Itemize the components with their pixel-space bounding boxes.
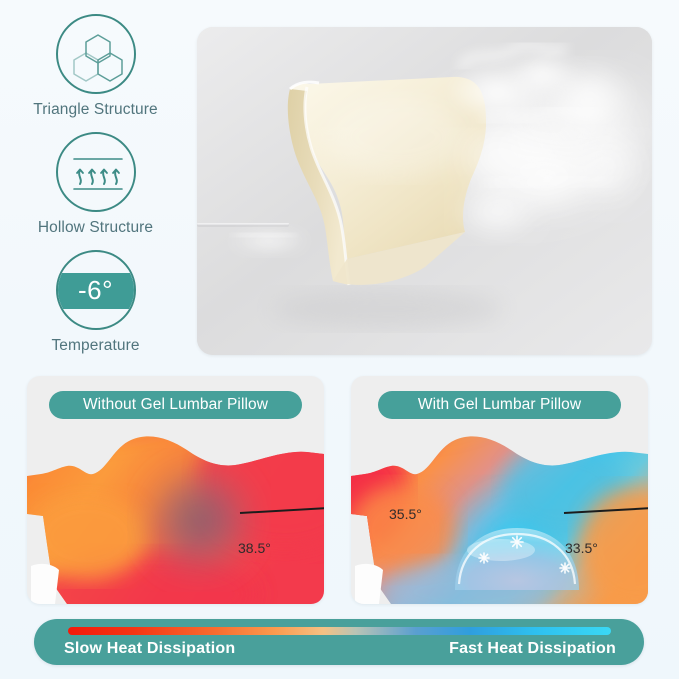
- product-photo-card: [197, 27, 652, 355]
- feature-temperature: -6° Temperature: [8, 250, 183, 355]
- feature-label: Temperature: [8, 337, 183, 355]
- temperature-band: -6°: [56, 273, 136, 309]
- feature-triangle-structure: Triangle Structure: [8, 14, 183, 119]
- feature-list: Triangle Structure: [8, 14, 183, 368]
- panel-title-pill: Without Gel Lumbar Pillow: [49, 391, 302, 419]
- hexagon-cluster-icon: [56, 14, 136, 94]
- product-infographic-page: Triangle Structure: [0, 0, 679, 679]
- thermal-image-without-gel: [27, 424, 324, 604]
- top-section: Triangle Structure: [0, 0, 679, 372]
- panel-title-pill: With Gel Lumbar Pillow: [378, 391, 621, 419]
- heat-gradient-strip: [68, 627, 611, 635]
- upward-airflow-arrows-icon: [56, 132, 136, 212]
- product-photo: [197, 27, 652, 355]
- feature-label: Triangle Structure: [8, 101, 183, 119]
- comparison-row: Without Gel Lumbar Pillow: [0, 376, 679, 608]
- temperature-reading: 38.5°: [238, 540, 271, 556]
- heat-dissipation-legend: Slow Heat Dissipation Fast Heat Dissipat…: [34, 619, 644, 665]
- feature-hollow-structure: Hollow Structure: [8, 132, 183, 237]
- airflow-arrows-glyph: [58, 134, 136, 212]
- temperature-band-icon: -6°: [56, 250, 136, 330]
- temperature-value: -6°: [78, 277, 113, 303]
- temperature-reading: 33.5°: [565, 540, 598, 556]
- hexagon-cluster-glyph: [58, 16, 136, 94]
- legend-label-fast: Fast Heat Dissipation: [449, 640, 616, 658]
- legend-label-slow: Slow Heat Dissipation: [64, 640, 235, 658]
- panel-title: Without Gel Lumbar Pillow: [83, 396, 268, 414]
- comparison-panel-with-gel: With Gel Lumbar Pillow: [351, 376, 648, 604]
- temperature-reading: 35.5°: [389, 506, 422, 522]
- panel-title: With Gel Lumbar Pillow: [418, 396, 581, 414]
- comparison-panel-without-gel: Without Gel Lumbar Pillow: [27, 376, 324, 604]
- thermal-map-hot: [27, 424, 324, 604]
- feature-label: Hollow Structure: [8, 219, 183, 237]
